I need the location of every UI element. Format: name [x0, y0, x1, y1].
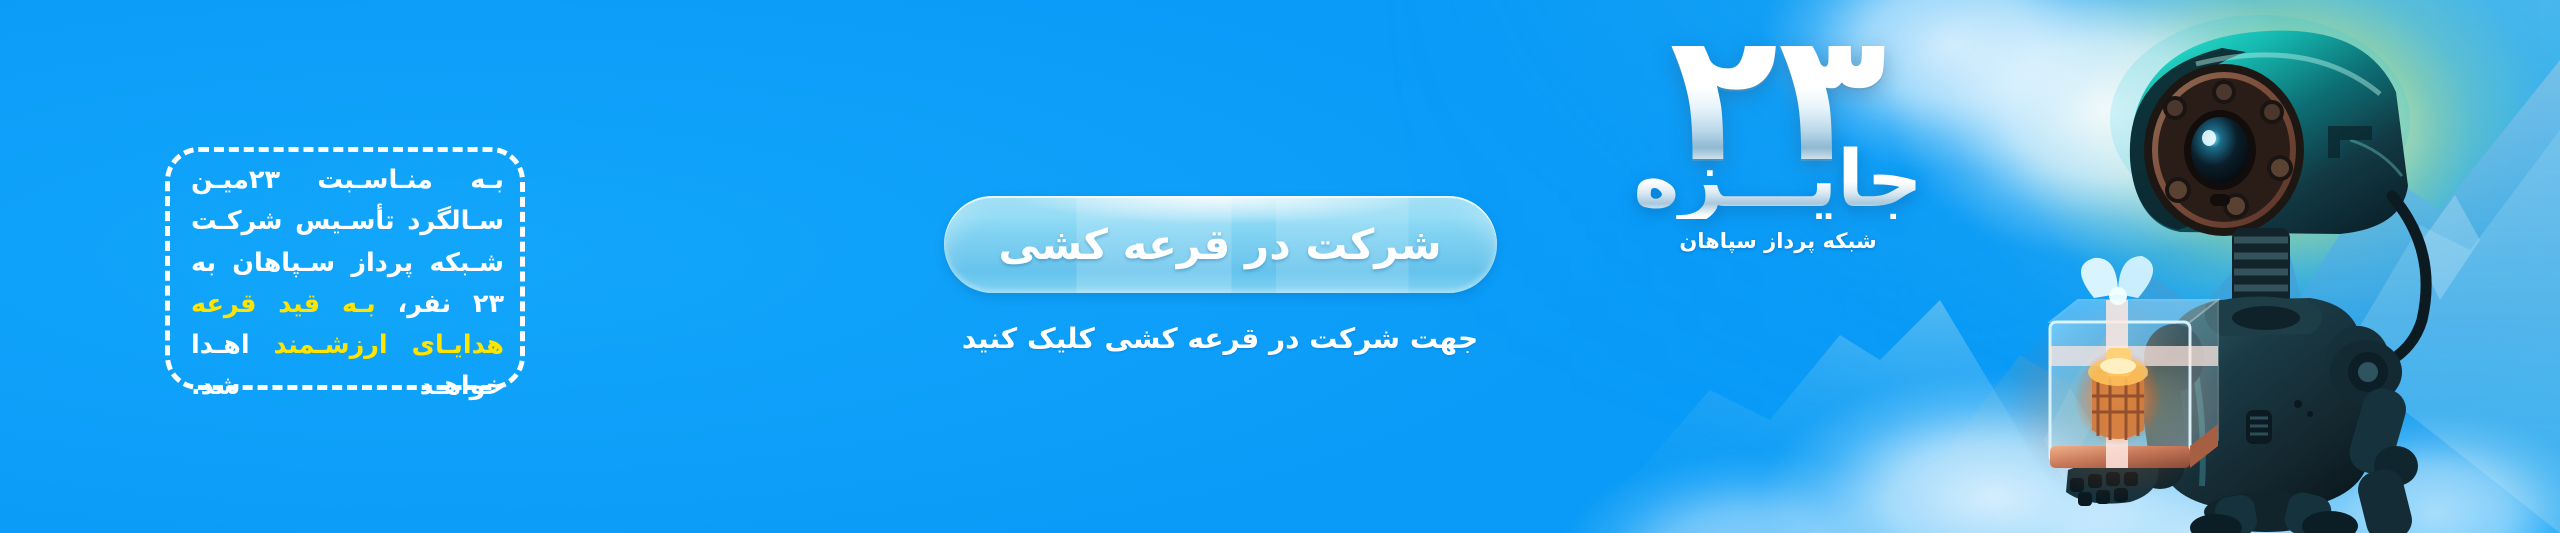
- enter-lottery-button-label: شرکت در قرعه کشی: [998, 220, 1441, 269]
- robot-torso: [2160, 296, 2370, 512]
- cta-group: شرکت در قرعه کشی جهت شرکت در قرعه کشی کل…: [940, 196, 1500, 355]
- promo-banner: بـه منـاسـبت ۲۳میـن سـالگرد تأسـیس شرکـت…: [0, 0, 2560, 533]
- prize-headline: ۲۳ جایـــزه شبکه پرداز سپاهان: [1568, 14, 1988, 314]
- robot-legs: [2190, 489, 2358, 533]
- cloud-puff: [2140, 40, 2440, 230]
- prize-word: جایـــزه: [1568, 141, 1988, 219]
- robot-left-arm: [2066, 370, 2190, 506]
- cloud-puff: [1560, 453, 1940, 533]
- promo-text-block: بـه منـاسـبت ۲۳میـن سـالگرد تأسـیس شرکـت…: [175, 142, 520, 426]
- cloud-puff: [2270, 413, 2560, 533]
- camera-head: [2130, 31, 2408, 236]
- robot-right-arm: [2330, 340, 2418, 533]
- cloud-puff: [1760, 373, 2230, 533]
- gift-box: [2010, 256, 2228, 500]
- promo-line-4-highlight: هدایـای ارزشـمند: [274, 330, 504, 360]
- cloud-puff: [1990, 423, 2410, 533]
- promo-line-3-highlight: بـه قید قرعه: [191, 289, 376, 319]
- cctv-robot-mascot: [2010, 0, 2530, 533]
- cta-caption: جهت شرکت در قرعه کشی کلیک کنید: [962, 322, 1478, 355]
- promo-line-5: شد.: [191, 371, 241, 401]
- brand-name: شبکه پرداز سپاهان: [1568, 229, 1988, 253]
- enter-lottery-button[interactable]: شرکت در قرعه کشی: [944, 196, 1497, 293]
- neck-spring: [2232, 228, 2290, 324]
